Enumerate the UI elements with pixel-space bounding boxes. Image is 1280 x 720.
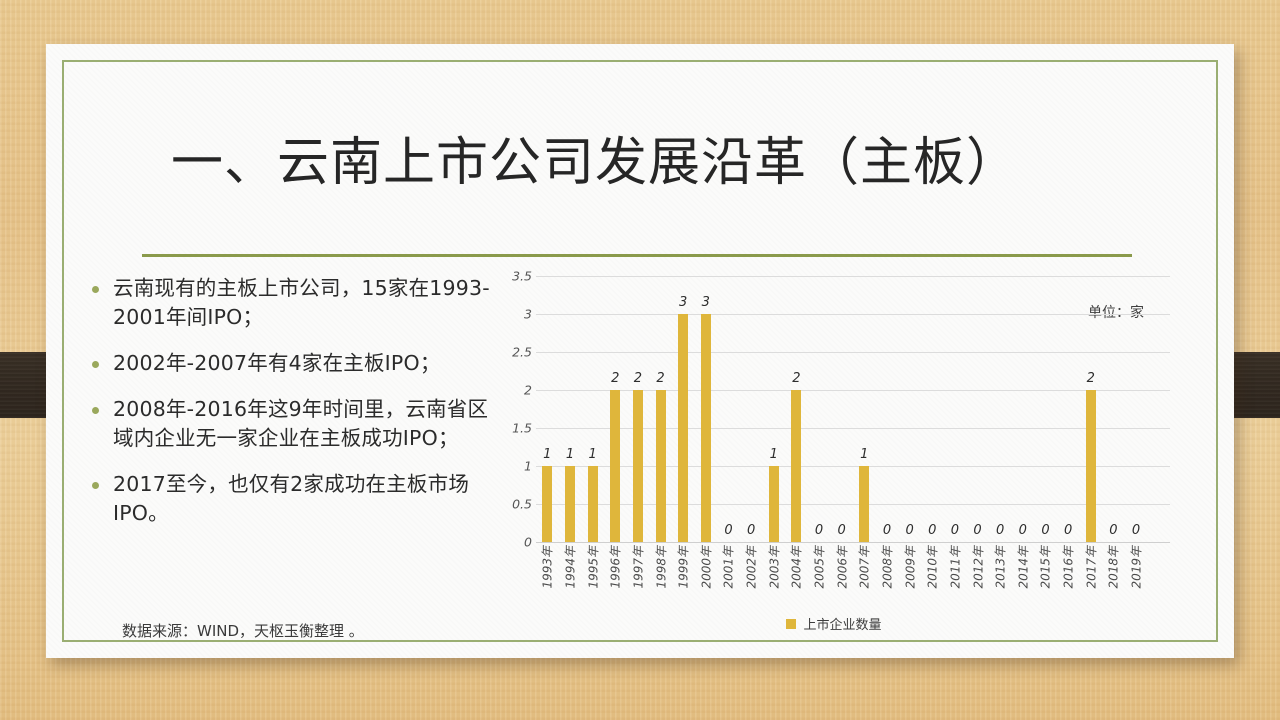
- x-axis-tick-label: 1995年: [584, 546, 601, 589]
- bar-value-label: 2: [656, 371, 664, 386]
- bar-slot: 1: [559, 276, 582, 542]
- x-axis-tick: 2010年: [921, 544, 944, 610]
- page-title: 一、云南上市公司发展沿革（主板）: [60, 120, 1130, 195]
- y-axis-tick-label: 2: [498, 383, 532, 398]
- x-axis-tick-label: 2019年: [1128, 546, 1145, 589]
- bar-slot: 0: [898, 276, 921, 542]
- bar-value-label: 2: [1087, 371, 1095, 386]
- bar-slot: 0: [1034, 276, 1057, 542]
- bar-slot: 0: [1125, 276, 1148, 542]
- x-axis-tick-label: 1993年: [539, 546, 556, 589]
- x-axis-tick: 2017年: [1079, 544, 1102, 610]
- bar: [678, 314, 688, 542]
- x-axis-tick-label: 2015年: [1037, 546, 1054, 589]
- x-axis-tick: 2009年: [898, 544, 921, 610]
- bar-value-label: 1: [566, 447, 574, 462]
- y-axis-tick-label: 1.5: [498, 421, 532, 436]
- gridline: [536, 542, 1170, 543]
- bar-value-label: 3: [679, 295, 687, 310]
- bar-slot: 0: [1102, 276, 1125, 542]
- x-axis-tick: 2001年: [717, 544, 740, 610]
- bar-slot: 0: [740, 276, 763, 542]
- bullet-text: 2002年-2007年有4家在主板IPO；: [113, 349, 441, 378]
- x-axis-tick-label: 2016年: [1060, 546, 1077, 589]
- x-axis-tick-label: 2009年: [901, 546, 918, 589]
- bar-value-label: 2: [792, 371, 800, 386]
- bar-slot: 0: [966, 276, 989, 542]
- x-axis-tick-label: 2017年: [1082, 546, 1099, 589]
- bullet-dot-icon: [92, 482, 99, 489]
- bar-slot: 2: [627, 276, 650, 542]
- bullet-dot-icon: [92, 361, 99, 368]
- chart-bars: 111222330012001000000000200: [536, 276, 1170, 542]
- bar-slot: 1: [536, 276, 559, 542]
- bar: [769, 466, 779, 542]
- x-axis-tick-label: 2002年: [743, 546, 760, 589]
- legend-swatch-icon: [786, 619, 796, 629]
- slide-root: 一、云南上市公司发展沿革（主板） 云南现有的主板上市公司，15家在1993-20…: [0, 0, 1280, 720]
- bar-slot: 0: [876, 276, 899, 542]
- y-axis-tick-label: 2.5: [498, 345, 532, 360]
- bar-slot: 1: [581, 276, 604, 542]
- bullet-text: 云南现有的主板上市公司，15家在1993-2001年间IPO；: [113, 274, 492, 332]
- bar-value-label: 0: [973, 523, 981, 538]
- bar-value-label: 0: [1019, 523, 1027, 538]
- x-axis-tick-label: 2007年: [856, 546, 873, 589]
- bar-slot: 3: [672, 276, 695, 542]
- x-axis-tick-label: 2012年: [969, 546, 986, 589]
- bar: [542, 466, 552, 542]
- bar-slot: 2: [604, 276, 627, 542]
- x-axis-tick: 1995年: [581, 544, 604, 610]
- bar-value-label: 0: [1064, 523, 1072, 538]
- bar: [701, 314, 711, 542]
- bullet-text: 2008年-2016年这9年时间里，云南省区域内企业无一家企业在主板成功IPO；: [113, 395, 492, 453]
- bar-value-label: 2: [634, 371, 642, 386]
- bar-value-label: 0: [951, 523, 959, 538]
- bar-slot: 0: [1057, 276, 1080, 542]
- x-axis-tick: 2016年: [1057, 544, 1080, 610]
- x-axis-tick: 2018年: [1102, 544, 1125, 610]
- bar-value-label: 1: [770, 447, 778, 462]
- bar: [588, 466, 598, 542]
- x-axis-tick-label: 1998年: [652, 546, 669, 589]
- y-axis-tick-label: 0.5: [498, 497, 532, 512]
- bar-value-label: 0: [838, 523, 846, 538]
- bar-value-label: 0: [747, 523, 755, 538]
- bar-value-label: 0: [928, 523, 936, 538]
- x-axis-tick-label: 2005年: [811, 546, 828, 589]
- bar-slot: 0: [808, 276, 831, 542]
- bullet-list: 云南现有的主板上市公司，15家在1993-2001年间IPO；2002年-200…: [92, 274, 492, 545]
- x-axis-tick-label: 1997年: [629, 546, 646, 589]
- x-axis-tick-label: 1996年: [607, 546, 624, 589]
- x-axis-tick-label: 2014年: [1014, 546, 1031, 589]
- chart-legend: 上市企业数量: [494, 614, 1174, 633]
- x-axis-tick: 1994年: [559, 544, 582, 610]
- x-axis-tick-label: 2006年: [833, 546, 850, 589]
- bar-slot: 0: [1012, 276, 1035, 542]
- x-axis-tick: 2005年: [808, 544, 831, 610]
- bullet-text: 2017至今，也仅有2家成功在主板市场IPO。: [113, 470, 492, 528]
- x-axis-tick: 2006年: [830, 544, 853, 610]
- bar-value-label: 1: [588, 447, 596, 462]
- y-axis-tick-label: 3.5: [498, 269, 532, 284]
- bar-slot: 2: [1079, 276, 1102, 542]
- x-axis-tick: 2014年: [1012, 544, 1035, 610]
- x-axis-tick: 2004年: [785, 544, 808, 610]
- bar-value-label: 0: [905, 523, 913, 538]
- bullet-item: 2017至今，也仅有2家成功在主板市场IPO。: [92, 470, 492, 528]
- x-axis-tick: 1996年: [604, 544, 627, 610]
- bullet-dot-icon: [92, 286, 99, 293]
- bar-value-label: 0: [724, 523, 732, 538]
- bar-slot: 2: [785, 276, 808, 542]
- bar-value-label: 1: [543, 447, 551, 462]
- x-axis-tick: 2000年: [695, 544, 718, 610]
- bar-slot: 0: [989, 276, 1012, 542]
- title-underline-rule: [142, 254, 1132, 257]
- x-axis-tick: 2008年: [876, 544, 899, 610]
- bar: [565, 466, 575, 542]
- x-axis-tick-label: 2008年: [878, 546, 895, 589]
- legend-label: 上市企业数量: [803, 614, 881, 633]
- x-axis-tick: 1998年: [649, 544, 672, 610]
- bar: [859, 466, 869, 542]
- bar: [610, 390, 620, 542]
- bullet-item: 2008年-2016年这9年时间里，云南省区域内企业无一家企业在主板成功IPO；: [92, 395, 492, 453]
- y-axis-tick-label: 1: [498, 459, 532, 474]
- bar-value-label: 0: [1041, 523, 1049, 538]
- bar-value-label: 0: [815, 523, 823, 538]
- bullet-item: 云南现有的主板上市公司，15家在1993-2001年间IPO；: [92, 274, 492, 332]
- bar-value-label: 0: [883, 523, 891, 538]
- x-axis-tick: 2012年: [966, 544, 989, 610]
- x-axis-tick-label: 2018年: [1105, 546, 1122, 589]
- x-axis-tick: 2011年: [944, 544, 967, 610]
- bar-value-label: 0: [1109, 523, 1117, 538]
- x-axis-tick: 2013年: [989, 544, 1012, 610]
- bar-value-label: 2: [611, 371, 619, 386]
- x-axis-tick-label: 1999年: [675, 546, 692, 589]
- bullet-dot-icon: [92, 407, 99, 414]
- y-axis-tick-label: 0: [498, 535, 532, 550]
- bar-slot: 3: [695, 276, 718, 542]
- bullet-item: 2002年-2007年有4家在主板IPO；: [92, 349, 492, 378]
- x-axis-tick: 1997年: [627, 544, 650, 610]
- x-axis-tick: 1999年: [672, 544, 695, 610]
- bar-value-label: 3: [702, 295, 710, 310]
- bar: [791, 390, 801, 542]
- x-axis-tick: 2019年: [1125, 544, 1148, 610]
- bar-slot: 0: [830, 276, 853, 542]
- y-axis-tick-label: 3: [498, 307, 532, 322]
- x-axis-tick-label: 2011年: [946, 546, 963, 589]
- x-axis-tick-label: 2001年: [720, 546, 737, 589]
- bar: [633, 390, 643, 542]
- chart-plot-wrapper: 00.511.522.533.5 11122233001200100000000…: [494, 276, 1174, 554]
- bar-slot: 0: [921, 276, 944, 542]
- x-axis-tick: 2003年: [762, 544, 785, 610]
- bar-slot: 1: [853, 276, 876, 542]
- x-axis-tick-label: 2013年: [992, 546, 1009, 589]
- chart-x-axis: 1993年1994年1995年1996年1997年1998年1999年2000年…: [536, 544, 1170, 610]
- x-axis-tick-label: 2010年: [924, 546, 941, 589]
- bar-slot: 1: [762, 276, 785, 542]
- x-axis-tick: 2015年: [1034, 544, 1057, 610]
- bar-value-label: 0: [996, 523, 1004, 538]
- bar: [1086, 390, 1096, 542]
- bar-value-label: 0: [1132, 523, 1140, 538]
- bar-chart: 单位：家 00.511.522.533.5 111222330012001000…: [494, 276, 1174, 636]
- x-axis-tick-label: 1994年: [561, 546, 578, 589]
- bar: [656, 390, 666, 542]
- x-axis-tick: 2002年: [740, 544, 763, 610]
- bar-slot: 0: [944, 276, 967, 542]
- bar-value-label: 1: [860, 447, 868, 462]
- bar-slot: 0: [717, 276, 740, 542]
- bar-slot: 2: [649, 276, 672, 542]
- source-note: 数据来源：WIND，天枢玉衡整理 。: [122, 620, 364, 641]
- x-axis-tick-label: 2003年: [765, 546, 782, 589]
- x-axis-tick: 1993年: [536, 544, 559, 610]
- x-axis-tick: 2007年: [853, 544, 876, 610]
- x-axis-tick-label: 2000年: [697, 546, 714, 589]
- x-axis-tick-label: 2004年: [788, 546, 805, 589]
